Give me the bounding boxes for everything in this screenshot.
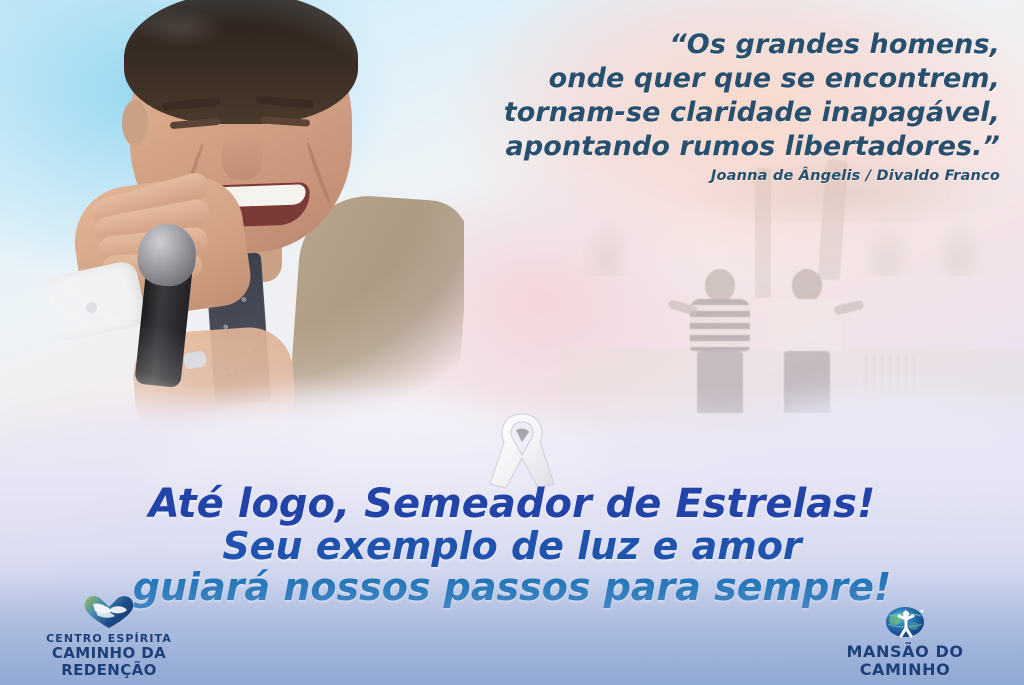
logo-mansao-do-caminho: MANSÃO DO CAMINHO [800, 600, 1010, 679]
quote-line-1: “Os grandes homens, [440, 28, 1000, 62]
headline-line-2: Seu exemplo de luz e amor [0, 527, 1024, 566]
portrait-ear [122, 100, 148, 146]
quote-line-2: onde quer que se encontrem, [440, 62, 1000, 96]
quote-text: “Os grandes homens, onde quer que se enc… [440, 28, 1000, 164]
portrait-suit-shoulder [285, 191, 472, 477]
ghost-photo-two-people-walking [560, 170, 1024, 435]
headline-line-1: Até logo, Semeador de Estrelas! [0, 484, 1024, 525]
globe-figure-icon [881, 600, 929, 640]
ghost-person-white-shirt [772, 269, 842, 413]
portrait-hair [124, 0, 358, 124]
portrait-nose [222, 132, 262, 180]
logo-left-line-2: CAMINHO DA REDENÇÃO [14, 645, 204, 679]
quote-attribution: Joanna de Ângelis / Divaldo Franco [440, 168, 1000, 184]
logo-centro-espirita: CENTRO ESPÍRITA CAMINHO DA REDENÇÃO [14, 592, 204, 679]
portrait-cuff-button [86, 302, 97, 313]
portrait-divaldo-franco [0, 0, 464, 462]
memorial-poster: “Os grandes homens, onde quer que se enc… [0, 0, 1024, 685]
quote-line-3: tornam-se claridade inapagável, [440, 96, 1000, 130]
quote-line-4: apontando rumos libertadores.” [440, 130, 1000, 164]
logo-right-line-2: MANSÃO DO CAMINHO [800, 643, 1010, 679]
ghost-person-striped-shirt [690, 269, 750, 413]
hands-heart-icon [81, 592, 137, 630]
